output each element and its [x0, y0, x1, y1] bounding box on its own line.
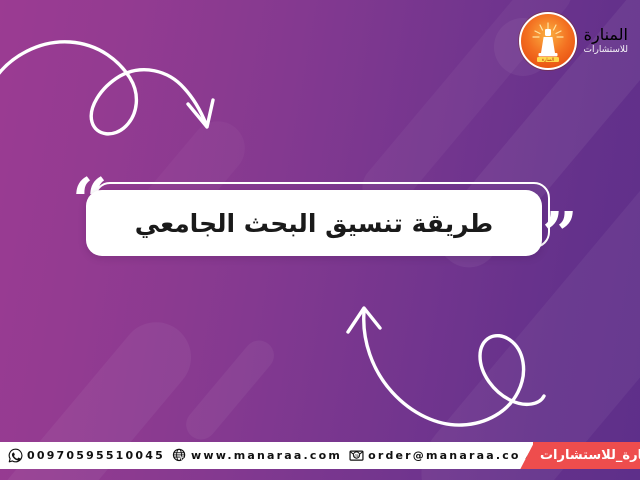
brand-logo-wordmark: المنارة للاستشارات: [584, 27, 628, 55]
contact-website[interactable]: www.manaraa.com: [172, 448, 342, 463]
contact-phone[interactable]: 00970595510045: [8, 448, 165, 463]
headline-card: طريقة تنسيق البحث الجامعي: [86, 190, 542, 256]
curved-loop-arrow-down-right-icon: [0, 28, 242, 163]
contact-details-strip: 00970595510045 www.manaraa.com: [0, 442, 534, 469]
quote-close-mark: ”: [542, 204, 578, 266]
brand-logo: المنارة للاستشارات: [519, 12, 628, 70]
brand-name: المنارة: [584, 27, 628, 43]
diagonal-band-decoration: [180, 334, 280, 445]
contact-bar: 00970595510045 www.manaraa.com: [0, 442, 640, 469]
globe-cursor-icon: [172, 448, 187, 463]
curved-loop-arrow-up-left-icon: [330, 288, 600, 428]
headline-block: “ طريقة تنسيق البحث الجامعي ”: [72, 176, 572, 262]
logo-mark-caption: المنارة: [541, 58, 553, 63]
email-at-icon: @: [349, 448, 364, 463]
whatsapp-icon: [8, 448, 23, 463]
brand-tagline: للاستشارات: [584, 46, 628, 55]
brand-hashtag: #المنارة_للاستشارات: [540, 448, 640, 463]
website-url: www.manaraa.com: [191, 449, 342, 462]
phone-number: 00970595510045: [27, 449, 165, 462]
page-title: طريقة تنسيق البحث الجامعي: [135, 209, 493, 238]
contact-email[interactable]: @ order@manaraa.com: [349, 448, 534, 463]
email-address: order@manaraa.com: [368, 449, 534, 462]
social-banner: المنارة للاستشارات: [0, 0, 640, 480]
diagonal-band-decoration: [397, 82, 640, 480]
hashtag-banner: #المنارة_للاستشارات: [533, 442, 640, 469]
svg-text:@: @: [354, 453, 359, 459]
lighthouse-icon: المنارة: [519, 12, 577, 70]
